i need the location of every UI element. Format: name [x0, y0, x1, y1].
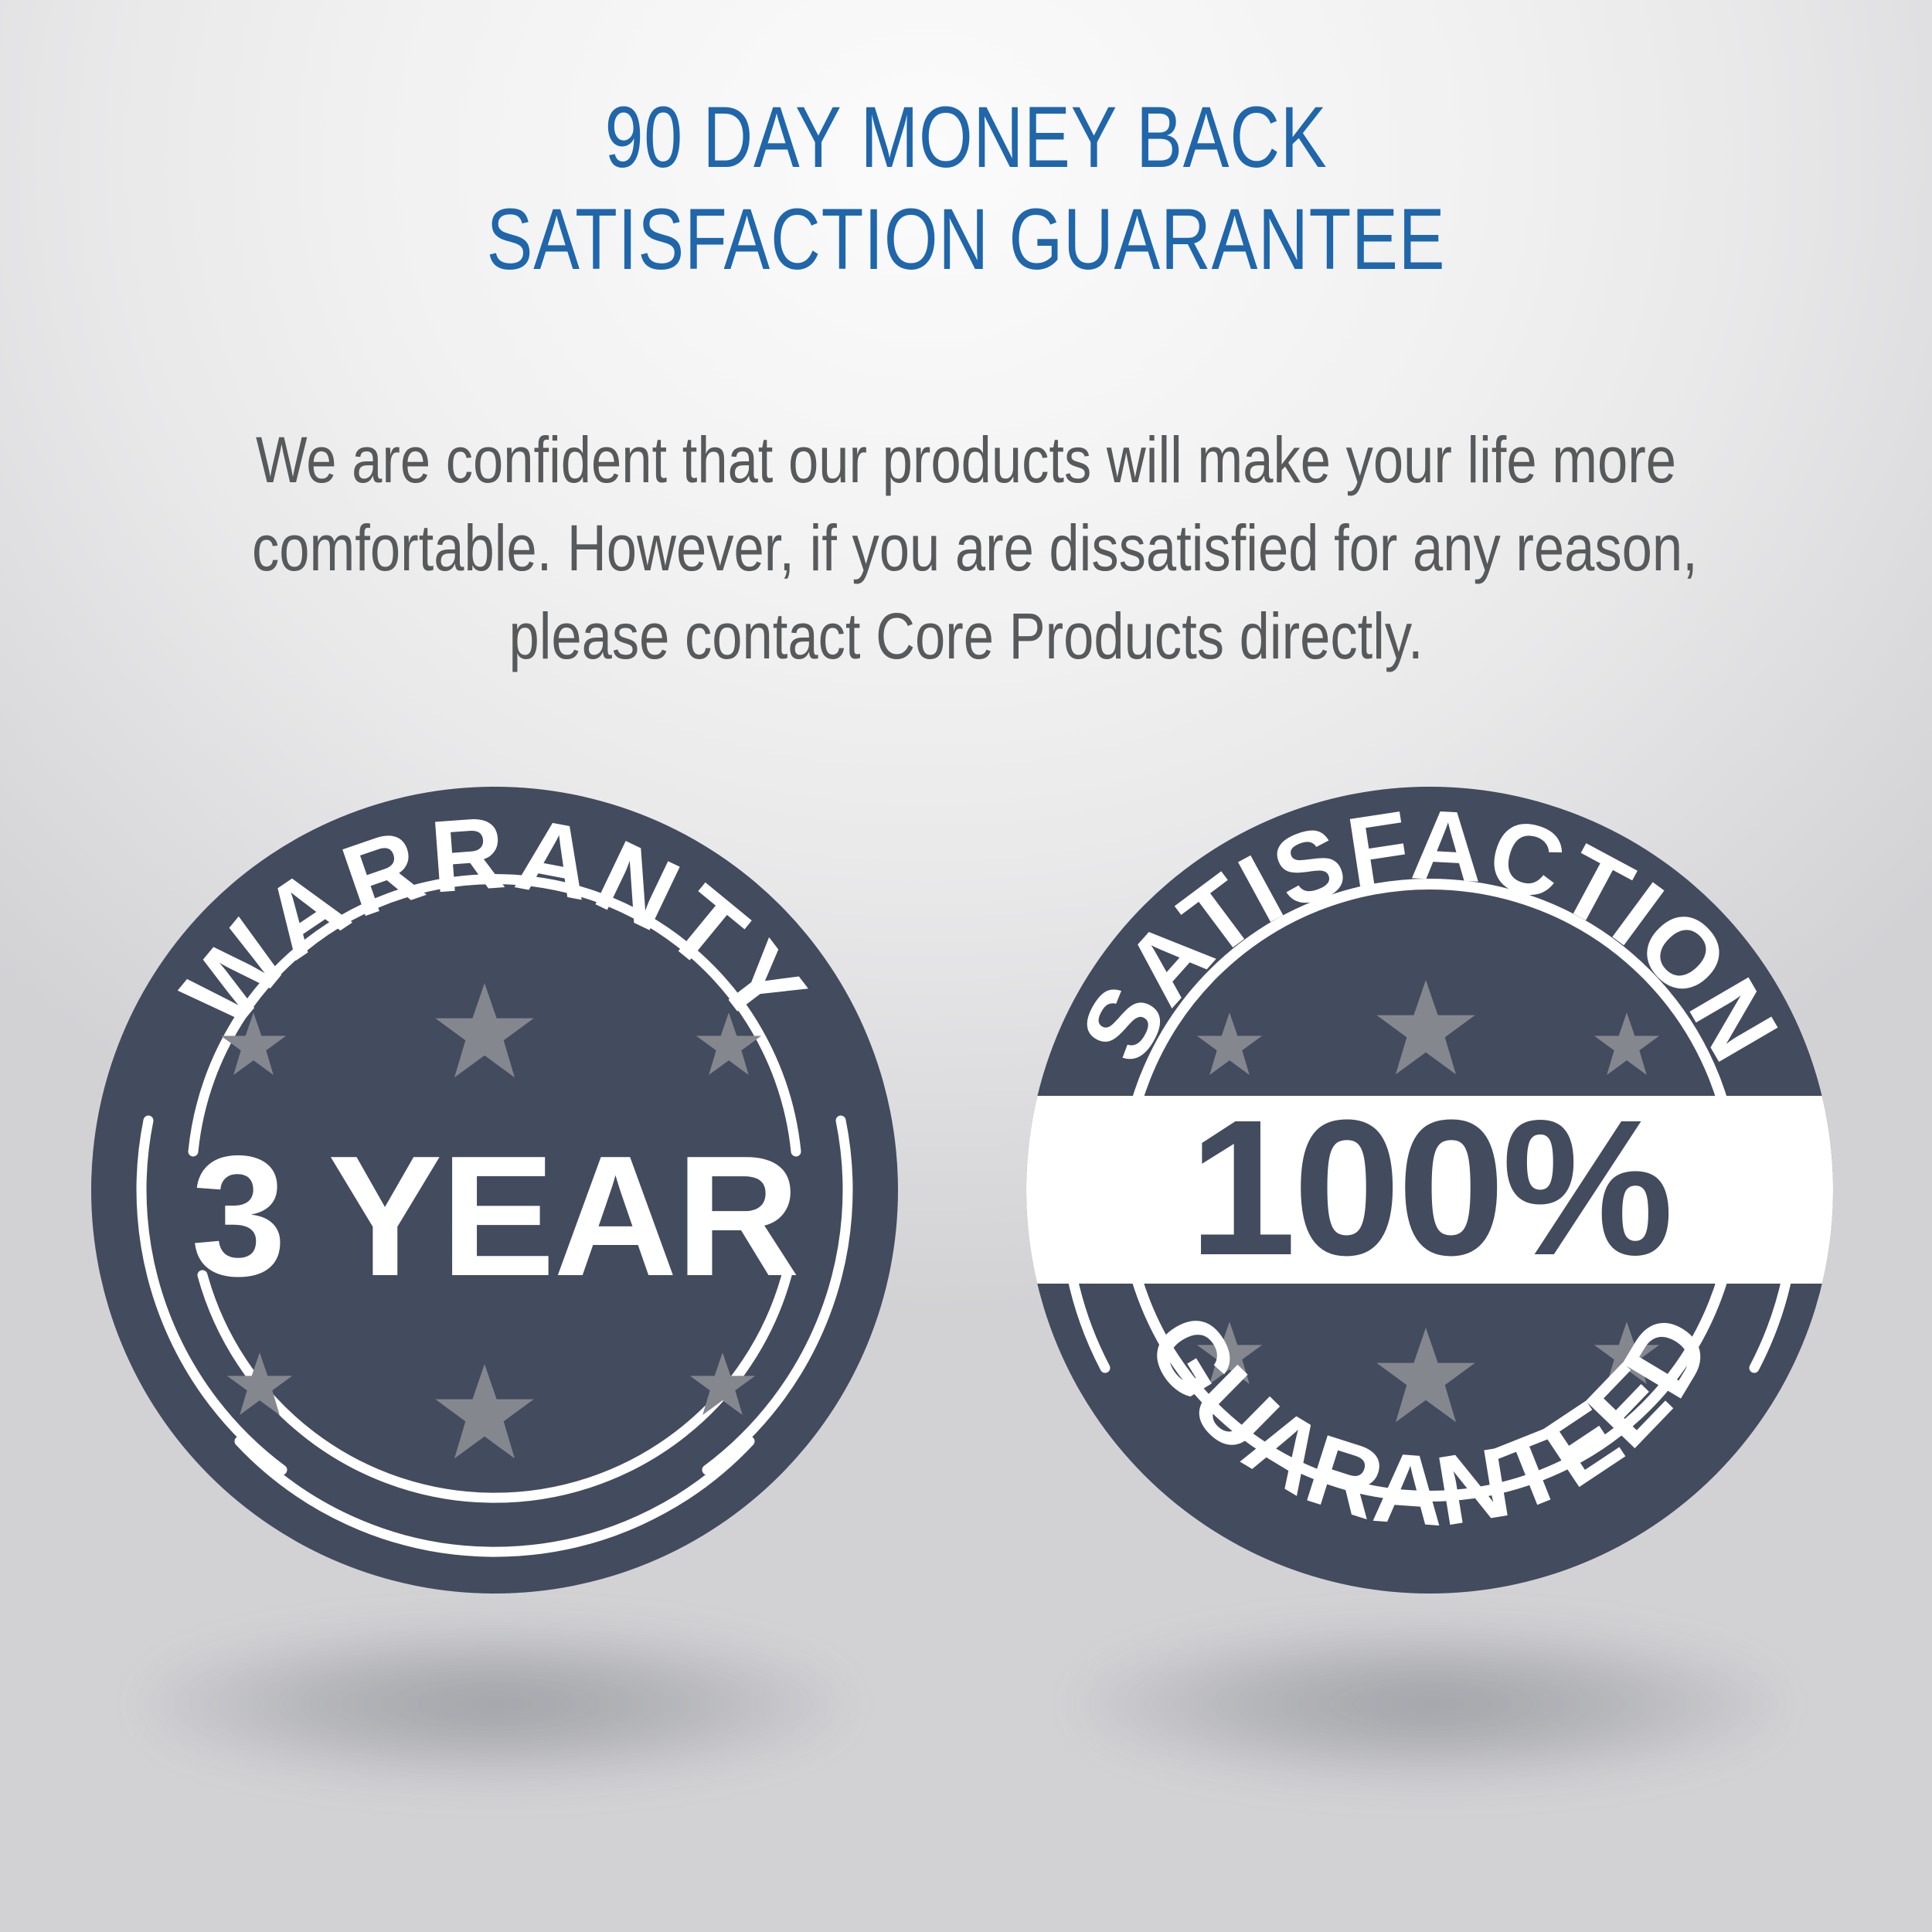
body-line-1: We are confident that our products will … [252, 416, 1680, 504]
body-line-2: comfortable. However, if you are dissati… [252, 504, 1680, 592]
satisfaction-banner-label: 100% [1189, 1080, 1670, 1295]
satisfaction-badge-graphic: SATISFACTION [1020, 781, 1839, 1631]
page-title: 90 DAY MONEY BACK SATISFACTION GUARANTEE [193, 87, 1739, 291]
badge-row: WARRANTY 3 YEAR [0, 781, 1932, 1862]
body-line-3: please contact Core Products directly. [252, 592, 1680, 680]
warranty-badge: WARRANTY 3 YEAR [46, 781, 943, 1862]
guarantee-graphic: 90 DAY MONEY BACK SATISFACTION GUARANTEE… [0, 0, 1932, 1932]
warranty-center-label: 3 YEAR [191, 1121, 798, 1312]
satisfaction-badge: SATISFACTION [981, 781, 1878, 1862]
headline-line-2: SATISFACTION GUARANTEE [193, 189, 1739, 291]
warranty-badge-shadow [147, 1627, 842, 1781]
satisfaction-badge-shadow [1082, 1627, 1777, 1781]
warranty-badge-graphic: WARRANTY 3 YEAR [85, 781, 904, 1631]
body-paragraph: We are confident that our products will … [252, 416, 1680, 681]
headline-line-1: 90 DAY MONEY BACK [193, 87, 1739, 189]
